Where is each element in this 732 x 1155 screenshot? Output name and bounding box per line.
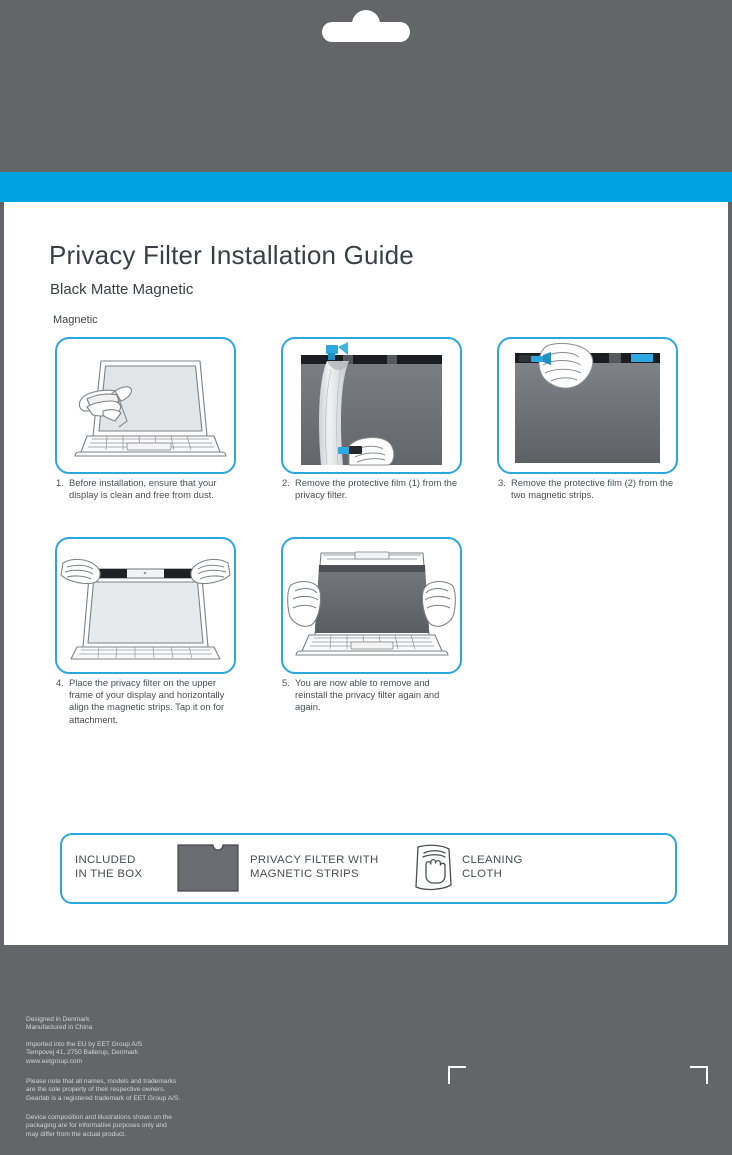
accent-band xyxy=(0,172,732,202)
cleaning-cloth-label: CLEANING CLOTH xyxy=(462,853,523,881)
cleaning-cloth-icon xyxy=(412,843,454,893)
step-5-illustration xyxy=(281,537,462,674)
step-3-caption: 3. Remove the protective film (2) from t… xyxy=(498,477,676,501)
page-title: Privacy Filter Installation Guide xyxy=(49,240,414,271)
step-number: 3. xyxy=(498,477,511,501)
step-number: 2. xyxy=(282,477,295,501)
step-5-caption: 5. You are now able to remove and reinst… xyxy=(282,677,460,714)
step-text: Remove the protective film (2) from the … xyxy=(511,477,676,501)
step-number: 5. xyxy=(282,677,295,714)
package-header xyxy=(0,0,732,172)
section-label: Magnetic xyxy=(53,314,98,326)
step-2-illustration xyxy=(281,337,462,474)
page-subtitle: Black Matte Magnetic xyxy=(50,281,193,298)
included-in-the-box-panel: INCLUDED IN THE BOX PRIVACY FILTER WITH … xyxy=(60,833,677,904)
step-text: Remove the protective film (1) from the … xyxy=(295,477,460,501)
included-in-the-box-heading: INCLUDED IN THE BOX xyxy=(75,853,142,881)
step-4-caption: 4. Place the privacy filter on the upper… xyxy=(56,677,234,726)
footer-importer: Imported into the EU by EET Group A/S Te… xyxy=(26,1041,142,1066)
step-1-caption: 1. Before installation, ensure that your… xyxy=(56,477,234,501)
privacy-filter-label: PRIVACY FILTER WITH MAGNETIC STRIPS xyxy=(250,853,378,881)
footer-trademark: Please note that all names, models and t… xyxy=(26,1078,180,1103)
privacy-filter-swatch-icon xyxy=(177,844,239,892)
step-text: You are now able to remove and reinstall… xyxy=(295,677,460,714)
crop-mark-right-icon xyxy=(690,1066,708,1084)
footer-origin: Designed in Denmark Manufactured in Chin… xyxy=(26,1016,92,1033)
step-number: 4. xyxy=(56,677,69,726)
euro-hang-slot-icon xyxy=(322,22,410,42)
step-4-illustration xyxy=(55,537,236,674)
step-3-illustration xyxy=(497,337,678,474)
step-1-illustration xyxy=(55,337,236,474)
footer-disclaimer: Device composition and illustrations sho… xyxy=(26,1114,172,1139)
step-text: Place the privacy filter on the upper fr… xyxy=(69,677,234,726)
step-2-caption: 2. Remove the protective film (1) from t… xyxy=(282,477,460,501)
crop-mark-left-icon xyxy=(448,1066,466,1084)
step-number: 1. xyxy=(56,477,69,501)
step-text: Before installation, ensure that your di… xyxy=(69,477,234,501)
